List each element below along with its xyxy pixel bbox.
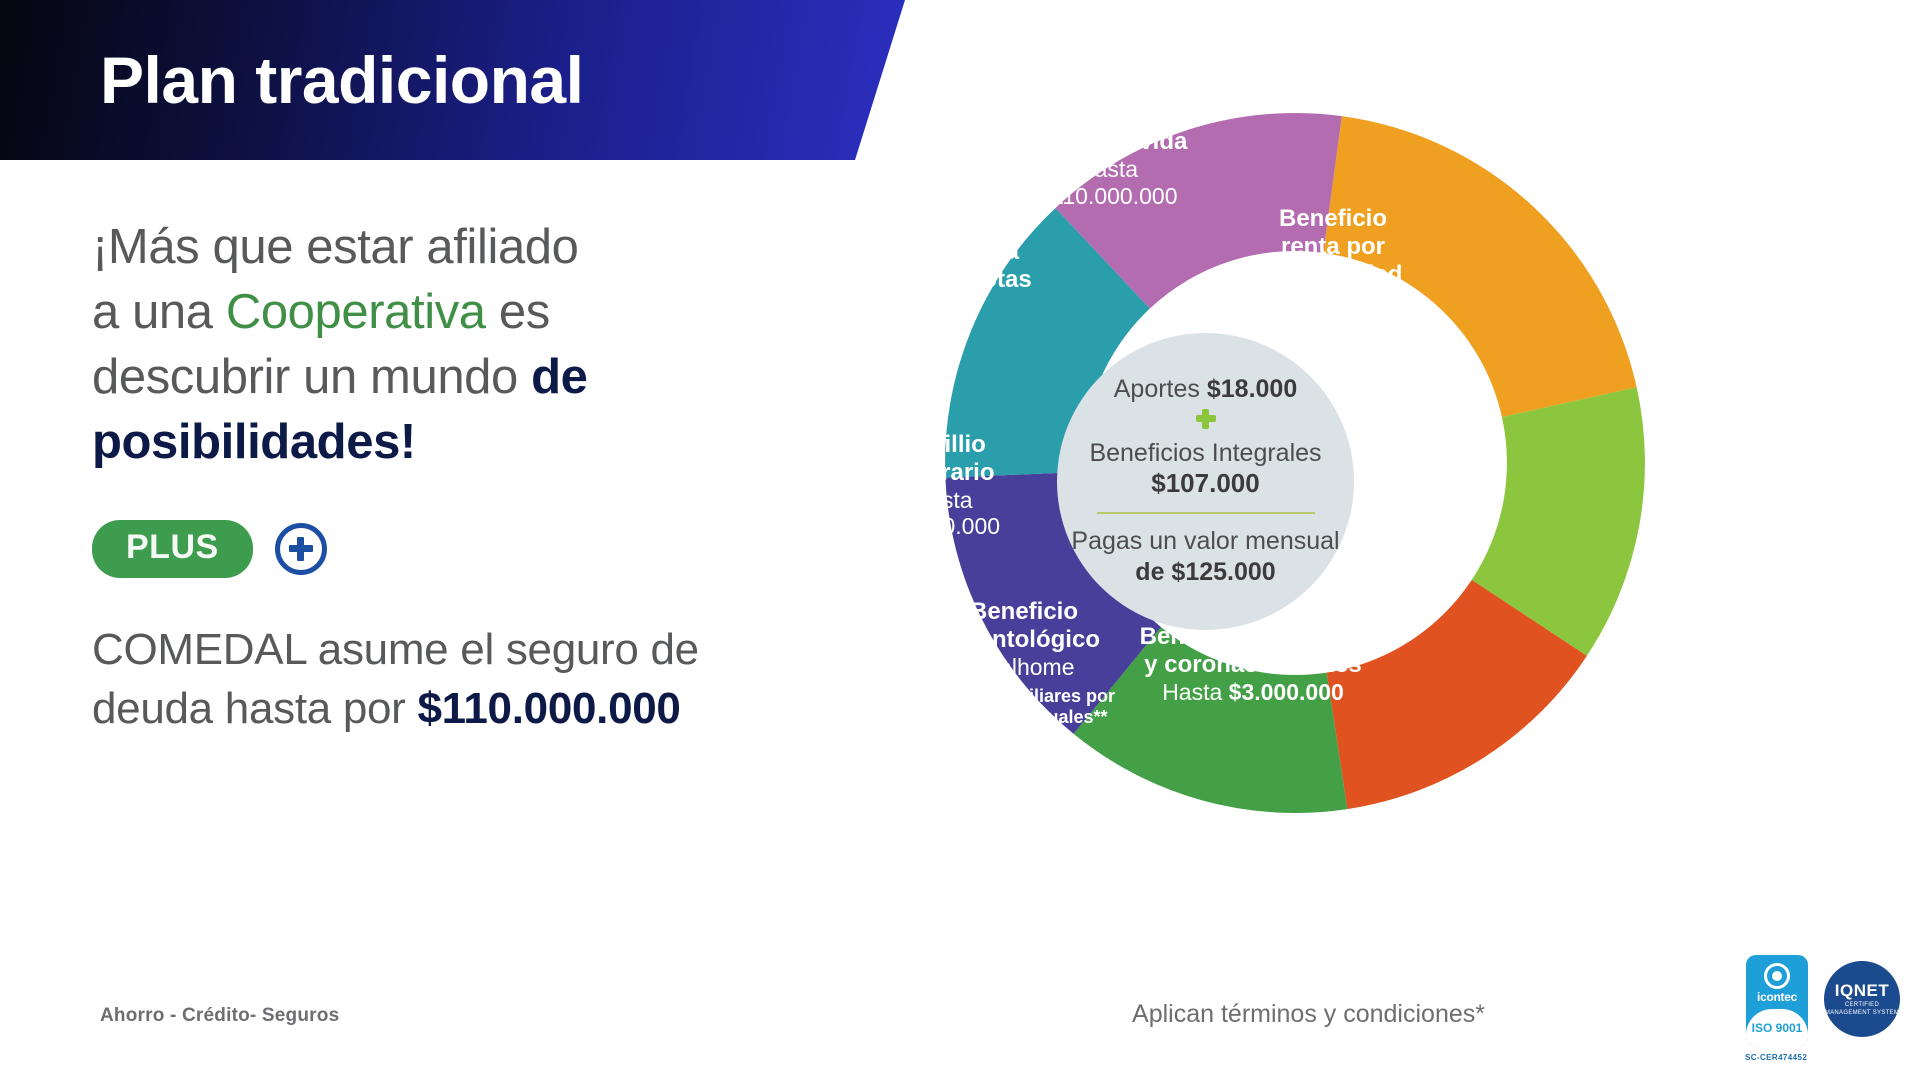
- icontec-spiral-icon: [1764, 963, 1790, 989]
- donut-center-summary: Aportes $18.000 Beneficios Integrales$10…: [1057, 333, 1354, 630]
- comedal-paragraph: COMEDAL asume el seguro de deuda hasta p…: [92, 620, 852, 740]
- left-content-column: ¡Más que estar afiliado a una Cooperativ…: [92, 215, 852, 739]
- green-plus-icon: [1196, 409, 1216, 434]
- lead-bold-de: de: [531, 350, 587, 404]
- lead-line-3: descubrir un mundo: [92, 350, 531, 404]
- lead-line-1: ¡Más que estar afiliado: [92, 220, 579, 274]
- header-banner: Plan tradicional: [0, 0, 905, 160]
- hub-beneficios-line: Beneficios Integrales$107.000: [1089, 438, 1321, 499]
- page-title: Plan tradicional: [100, 42, 583, 118]
- icontec-cert-code: SC-CER474452: [1745, 1053, 1807, 1062]
- iqnet-badge: IQNET CERTIFIED MANAGEMENT SYSTEM: [1824, 961, 1900, 1037]
- footer-terms: Aplican términos y condiciones*: [1132, 1000, 1485, 1029]
- hub-divider: [1097, 512, 1315, 514]
- certification-badges: icontec ISO 9001 IQNET CERTIFIED MANAGEM…: [1746, 955, 1900, 1047]
- lead-line-2a: a una: [92, 285, 226, 339]
- footer-tagline: Ahorro - Crédito- Seguros: [100, 1005, 339, 1027]
- icontec-iso-badge: icontec ISO 9001: [1746, 955, 1808, 1047]
- plus-badge-row: PLUS: [92, 520, 852, 578]
- icontec-iso-label: ISO 9001: [1752, 1021, 1803, 1035]
- iqnet-subtitle: CERTIFIED MANAGEMENT SYSTEM: [1824, 1001, 1900, 1017]
- plus-circle-icon: [275, 523, 327, 575]
- segment-poliza-de-vida: [1305, 81, 1638, 439]
- hub-total-line: Pagas un valor mensualde $125.000: [1071, 526, 1339, 589]
- plus-badge: PLUS: [92, 520, 253, 578]
- lead-paragraph: ¡Más que estar afiliado a una Cooperativ…: [92, 215, 852, 476]
- lead-line-2b: es: [486, 285, 550, 339]
- lead-highlight-cooperativa: Cooperativa: [226, 285, 486, 339]
- comedal-line-2: deuda hasta por: [92, 684, 417, 733]
- icontec-name: icontec: [1746, 990, 1808, 1004]
- comedal-line-1: COMEDAL asume el seguro de: [92, 625, 699, 674]
- comedal-amount: $110.000.000: [417, 684, 680, 733]
- infographic-page: Plan tradicional ¡Más que estar afiliado…: [0, 0, 1920, 1080]
- lead-bold-posibilidades: posibilidades!: [92, 415, 416, 469]
- iqnet-name: IQNET: [1835, 981, 1889, 1001]
- hub-aportes-line: Aportes $18.000: [1114, 375, 1297, 404]
